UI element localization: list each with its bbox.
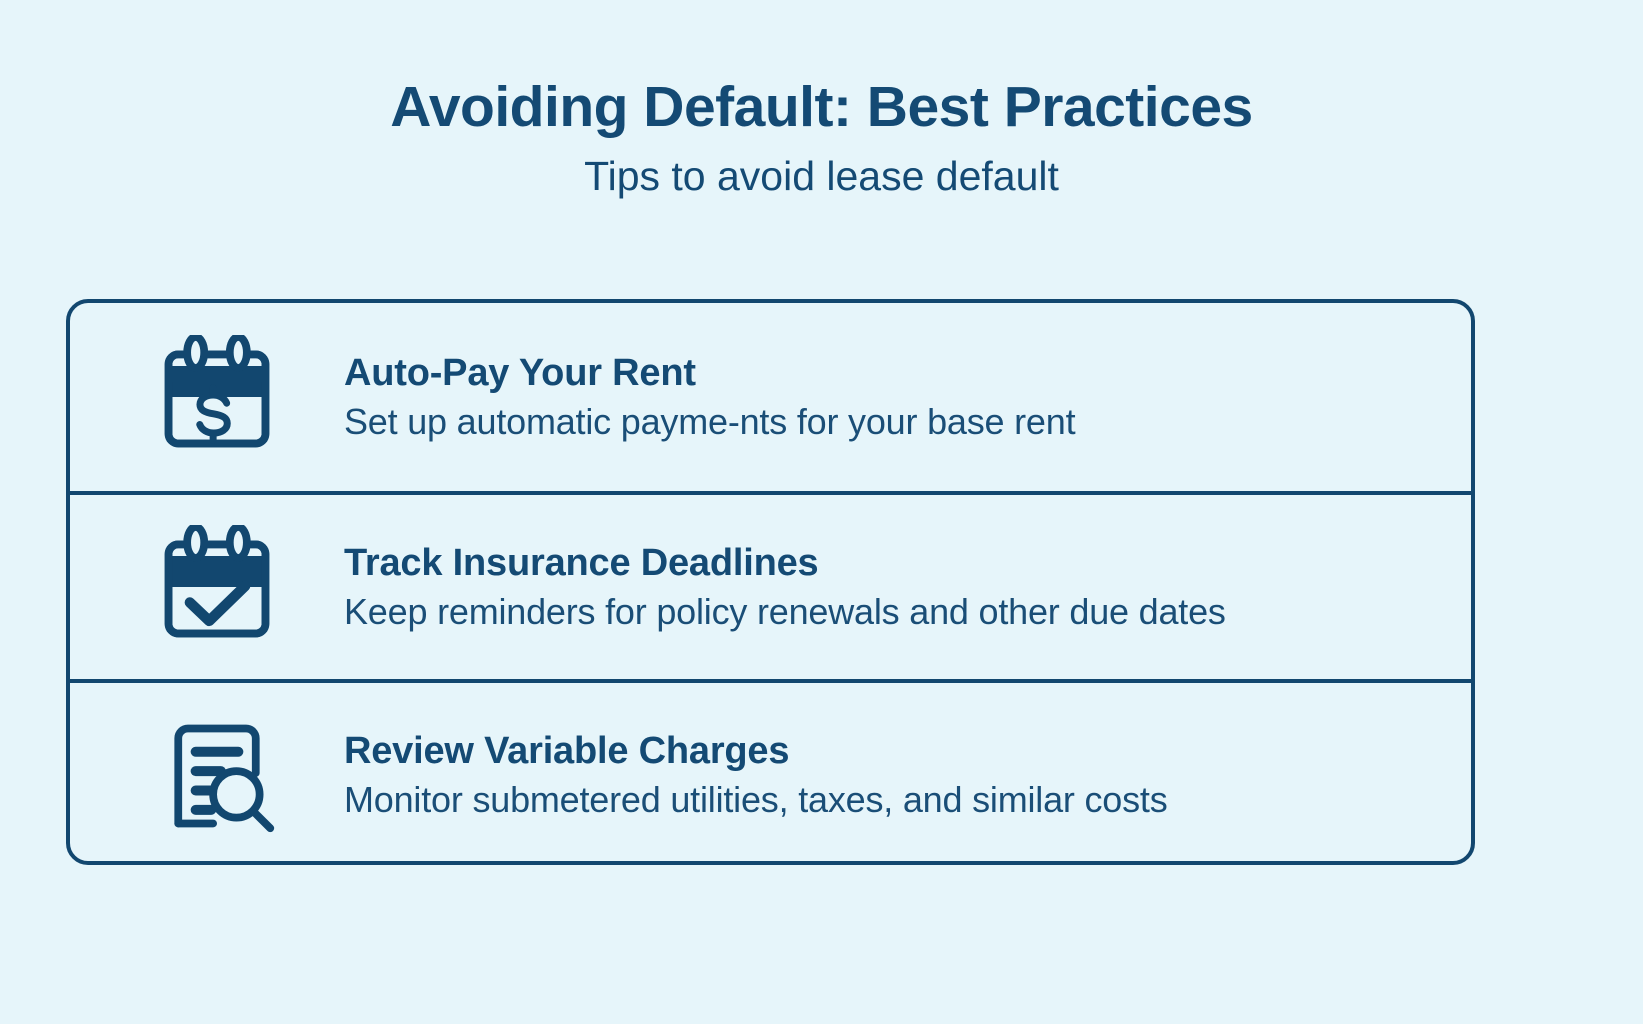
- list-item-title: Auto-Pay Your Rent: [344, 351, 1451, 396]
- list-item-text: Auto-Pay Your Rent Set up automatic paym…: [282, 351, 1451, 443]
- list-item-text: Track Insurance Deadlines Keep reminders…: [282, 541, 1451, 633]
- list-item-text: Review Variable Charges Monitor submeter…: [282, 729, 1451, 821]
- list-item: Auto-Pay Your Rent Set up automatic paym…: [70, 303, 1471, 491]
- list-item-title: Review Variable Charges: [344, 729, 1451, 774]
- page-subtitle: Tips to avoid lease default: [0, 153, 1643, 200]
- list-item: Review Variable Charges Monitor submeter…: [70, 679, 1471, 865]
- page-title: Avoiding Default: Best Practices: [0, 76, 1643, 139]
- list-item-description: Keep reminders for policy renewals and o…: [344, 590, 1451, 633]
- list-item-description: Monitor submetered utilities, taxes, and…: [344, 778, 1451, 821]
- calendar-check-icon: [152, 525, 282, 649]
- document-search-icon: [152, 713, 282, 837]
- calendar-dollar-icon: [152, 335, 282, 459]
- best-practices-card: Auto-Pay Your Rent Set up automatic paym…: [66, 299, 1475, 865]
- header: Avoiding Default: Best Practices Tips to…: [0, 0, 1643, 200]
- list-item: Track Insurance Deadlines Keep reminders…: [70, 491, 1471, 679]
- list-item-title: Track Insurance Deadlines: [344, 541, 1451, 586]
- list-item-description: Set up automatic payme-nts for your base…: [344, 400, 1451, 443]
- infographic-page: Avoiding Default: Best Practices Tips to…: [0, 0, 1643, 1024]
